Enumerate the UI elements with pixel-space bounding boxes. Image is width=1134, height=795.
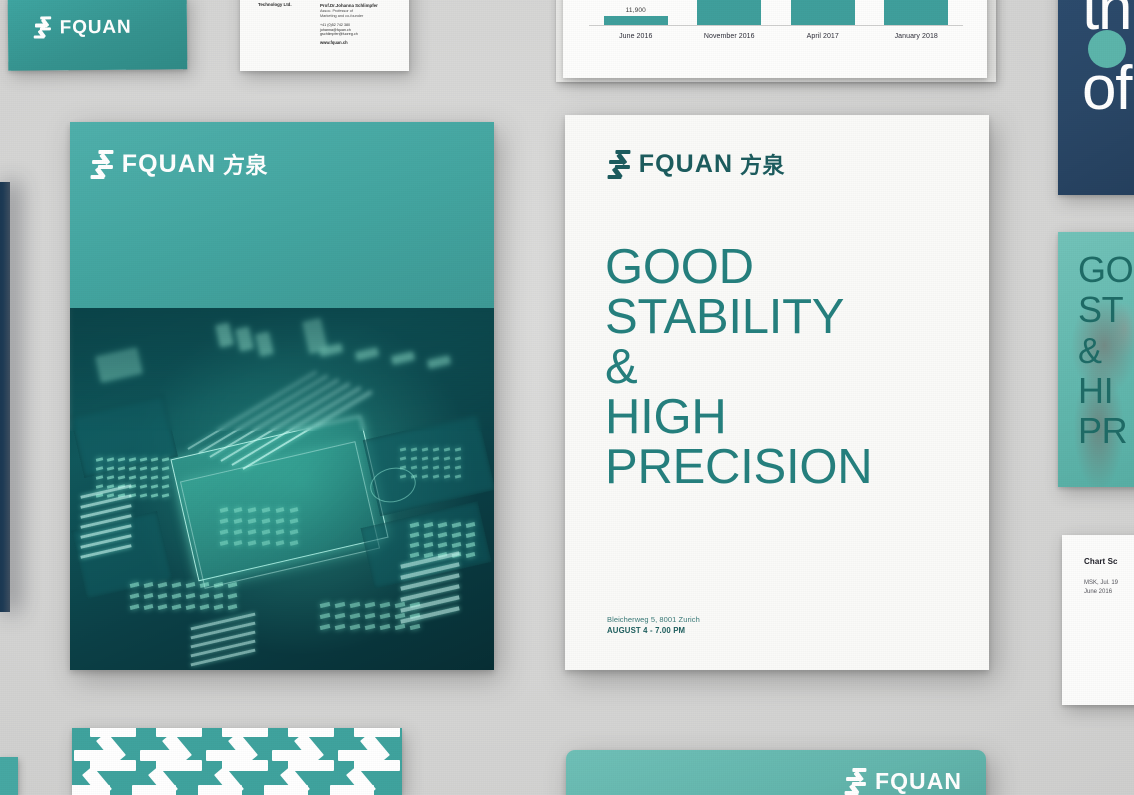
teal-poster-headline: GOST&HIPR	[1078, 250, 1133, 452]
pattern-stroke	[354, 760, 400, 771]
teal-folder: FQUAN	[566, 750, 986, 795]
headline-line: GOOD	[605, 243, 971, 293]
circuit-element	[380, 602, 391, 608]
circuit-element	[186, 604, 196, 610]
logo-mark-stroke	[847, 777, 860, 781]
logo-mark-stroke	[92, 159, 107, 163]
circuit-element	[365, 624, 376, 630]
navy-poster-cropped: th of	[1058, 0, 1134, 195]
circuit-element	[144, 593, 154, 599]
card-website: www.fquan.ch	[320, 40, 396, 45]
headline-line: STABILITY	[605, 293, 971, 343]
pattern-stroke	[72, 785, 110, 795]
white-business-card: Technology Ltd. Prof.Dr.Johanna Schlimpf…	[240, 0, 409, 71]
pattern-stroke	[330, 785, 374, 795]
circuit-element	[214, 604, 224, 610]
circuit-element	[172, 604, 182, 610]
circuit-element	[118, 466, 125, 470]
circuit-element	[214, 593, 224, 599]
circuit-element	[172, 582, 182, 588]
circuit-element	[107, 475, 114, 479]
circuit-element	[335, 602, 346, 608]
circuit-element	[140, 484, 147, 488]
circuit-element	[162, 493, 169, 497]
poster-headline: GOODSTABILITY&HIGHPRECISION	[605, 243, 971, 493]
teal-headline-line: PR	[1078, 411, 1133, 451]
pattern-stroke	[90, 760, 136, 771]
circuit-element	[118, 475, 125, 479]
circuit-element	[129, 475, 136, 479]
chart-doc-subtitle-2: June 2016	[1084, 588, 1118, 597]
circuit-element	[191, 613, 256, 631]
headline-line: HIGH	[605, 393, 971, 443]
pattern-stroke	[198, 785, 242, 795]
circuit-element	[130, 593, 140, 599]
teal-headline-line: HI	[1078, 371, 1133, 411]
business-card-header-block: Technology Ltd.	[258, 2, 318, 8]
headline-line: &	[605, 343, 971, 393]
bar-rect	[697, 0, 761, 25]
fquan-logo-lockup: FQUAN 方泉	[90, 148, 268, 180]
circuit-element	[186, 593, 196, 599]
bar-rect	[791, 0, 855, 25]
logo-mark-stroke	[98, 150, 114, 154]
circuit-element	[140, 493, 147, 497]
chart-plot-area: 11,90034,00000	[589, 0, 963, 26]
pattern-stroke	[156, 760, 202, 771]
chart-doc-subtitle-1: MSK, Jul. 19	[1084, 579, 1118, 588]
logo-mark-stroke	[615, 150, 631, 154]
fquan-wordmark: FQUAN	[639, 152, 734, 177]
brochure-header-band: FQUAN 方泉	[70, 122, 494, 308]
circuit-element	[151, 466, 158, 470]
brochure-photo	[70, 308, 494, 670]
card-company-line: Technology Ltd.	[258, 2, 318, 8]
fquan-wordmark: FQUAN	[60, 17, 132, 37]
circuit-element	[350, 613, 361, 619]
fquan-logo-lockup: FQUAN	[34, 16, 132, 39]
main-event-poster: FQUAN 方泉 GOODSTABILITY&HIGHPRECISION Ble…	[565, 115, 989, 670]
circuit-element	[228, 582, 238, 588]
axis-tick-label: January 2018	[875, 33, 957, 40]
circuit-element	[162, 484, 169, 488]
teal-headline-line: ST	[1078, 290, 1133, 330]
logo-mark-stroke	[607, 174, 622, 178]
teal-brochure-cover: FQUAN 方泉	[70, 122, 494, 670]
pattern-stroke	[222, 728, 268, 737]
axis-tick-label: April 2017	[782, 33, 864, 40]
chart-x-axis: June 2016November 2016April 2017January …	[589, 28, 963, 50]
fquan-logo-lockup: FQUAN	[845, 768, 962, 795]
business-card-contact-block: Prof.Dr.Johanna Schlimpfer Assoc. Profes…	[320, 3, 396, 45]
circuit-element	[151, 493, 158, 497]
circuit-element	[320, 602, 331, 608]
circuit-element	[144, 604, 154, 610]
logo-mark-stroke	[609, 159, 624, 163]
circuit-element	[172, 593, 182, 599]
fquan-logo-mark	[89, 150, 115, 179]
circuit-element	[107, 493, 114, 497]
circuit-element	[350, 624, 361, 630]
circuit-element	[214, 582, 224, 588]
fquan-logo-lockup: FQUAN 方泉	[607, 148, 785, 180]
chart-doc-title: Chart Sc	[1084, 557, 1118, 566]
poster-footer: Bleicherweg 5, 8001 Zurich AUGUST 4 - 7.…	[607, 614, 700, 637]
circuit-element	[350, 602, 361, 608]
pattern-stroke	[288, 760, 334, 771]
bar-value-label: 11,900	[626, 7, 646, 14]
fquan-wordmark: FQUAN	[122, 152, 217, 177]
fquan-logo-mark	[34, 16, 54, 38]
pattern-stroke	[264, 785, 308, 795]
circuit-element	[395, 624, 406, 630]
logo-mark-stroke	[845, 791, 858, 795]
pattern-logo-tile	[138, 728, 204, 795]
pattern-logo-tile	[204, 728, 270, 795]
circuit-element	[320, 624, 331, 630]
circuit-element	[158, 604, 168, 610]
teal-hand-poster-cropped: GOST&HIPR	[1058, 232, 1134, 487]
circuit-element	[158, 582, 168, 588]
circuit-element	[365, 613, 376, 619]
fquan-chinese-name: 方泉	[740, 148, 785, 180]
circuit-element	[151, 484, 158, 488]
circuit-element	[96, 484, 103, 488]
logo-pattern-strip	[72, 728, 402, 795]
pattern-stroke	[354, 728, 400, 737]
circuit-element	[162, 457, 169, 461]
circuit-element	[410, 624, 421, 630]
pattern-logo-tile	[270, 728, 336, 795]
teal-headline-line: GO	[1078, 250, 1133, 290]
headline-line: PRECISION	[605, 443, 971, 493]
circuit-element	[335, 624, 346, 630]
circuit-element	[140, 466, 147, 470]
teal-headline-line: &	[1078, 331, 1133, 371]
circuit-element	[129, 466, 136, 470]
circuit-board-image	[70, 308, 494, 670]
chart-summary-document: Chart Sc MSK, Jul. 19 June 2016	[1062, 535, 1134, 705]
circuit-element	[200, 604, 210, 610]
axis-tick-label: November 2016	[688, 33, 770, 40]
circuit-element	[162, 466, 169, 470]
circuit-element	[130, 604, 140, 610]
pattern-logo-tile	[336, 728, 402, 795]
circuit-element	[158, 593, 168, 599]
bar-rect	[884, 0, 948, 25]
poster-address: Bleicherweg 5, 8001 Zurich	[607, 614, 700, 625]
bar-chart: 11,90034,00000 June 2016November 2016Apr…	[581, 0, 969, 50]
fquan-logo-mark	[845, 768, 869, 795]
circuit-element	[228, 593, 238, 599]
bar-column: 34,000	[688, 0, 770, 25]
teal-corner-sliver	[0, 757, 18, 795]
circuit-element	[365, 602, 376, 608]
circuit-element	[96, 475, 103, 479]
pattern-logo-tile	[72, 728, 138, 795]
circuit-element	[335, 613, 346, 619]
pattern-stroke	[288, 728, 334, 737]
axis-tick-label: June 2016	[595, 33, 677, 40]
bar-chart-sheet: 11,90034,00000 June 2016November 2016Apr…	[563, 0, 987, 78]
fquan-chinese-name: 方泉	[223, 148, 268, 180]
bar-rect	[604, 16, 668, 25]
mockup-stage: 11,90034,00000 June 2016November 2016Apr…	[0, 0, 1134, 795]
pattern-stroke	[90, 728, 136, 737]
bar-column: 0	[782, 0, 864, 25]
pattern-stroke	[222, 760, 268, 771]
circuit-element	[151, 475, 158, 479]
logo-mark-stroke	[90, 174, 105, 178]
navy-poster-line-2: of	[1082, 58, 1131, 120]
teal-business-card: FQUAN	[8, 0, 188, 71]
circuit-element	[320, 613, 331, 619]
bar-column: 0	[875, 0, 957, 25]
circuit-element	[228, 604, 238, 610]
pattern-stroke	[156, 728, 202, 737]
poster-datetime: AUGUST 4 - 7.00 PM	[607, 625, 700, 637]
chart-doc-subtitle: MSK, Jul. 19 June 2016	[1084, 579, 1118, 597]
fquan-logo-mark	[606, 150, 632, 179]
circuit-element	[380, 613, 391, 619]
circuit-element	[162, 475, 169, 479]
circuit-element	[186, 582, 196, 588]
circuit-element	[140, 475, 147, 479]
fquan-wordmark: FQUAN	[875, 770, 962, 793]
circuit-element	[144, 582, 154, 588]
photo-depth-blur	[70, 308, 494, 431]
circuit-element	[380, 624, 391, 630]
circuit-element	[200, 593, 210, 599]
navy-edge-sliver	[0, 182, 10, 612]
logo-mark-stroke	[34, 35, 45, 39]
bar-column: 11,900	[595, 0, 677, 25]
pattern-stroke	[132, 785, 176, 795]
